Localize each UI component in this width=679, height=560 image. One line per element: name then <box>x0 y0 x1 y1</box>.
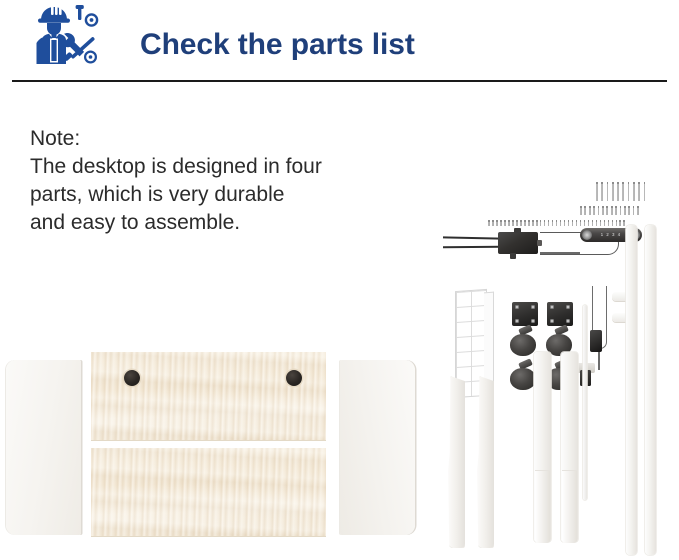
control-wire-upper <box>443 236 501 239</box>
hex-key-socket-left <box>582 230 592 240</box>
note-label: Note: <box>30 125 430 153</box>
curved-base-foot-2 <box>477 376 494 548</box>
white-side-panel-right <box>340 360 415 535</box>
note-line-3: and easy to assemble. <box>30 209 430 237</box>
cable-grommet-hole-left <box>124 370 140 386</box>
mounting-bracket-plate-2 <box>547 302 573 326</box>
wood-desktop-panel-bottom <box>91 448 326 536</box>
cable-grommet-hole-right <box>286 370 302 386</box>
looped-cable-tail <box>540 252 580 254</box>
note-line-2: parts, which is very durable <box>30 181 430 209</box>
header-divider <box>12 80 667 82</box>
curved-base-foot-1 <box>448 376 465 548</box>
control-wire-lower <box>443 246 501 248</box>
white-leg-column-2 <box>561 352 578 542</box>
white-side-panel-left <box>6 360 81 535</box>
worker-with-tools-icon <box>28 4 104 74</box>
page-header: Check the parts list <box>0 0 679 82</box>
note-block: Note: The desktop is designed in four pa… <box>30 125 430 237</box>
note-line-1: The desktop is designed in four <box>30 153 430 181</box>
power-cable-plug <box>590 330 602 352</box>
page-title: Check the parts list <box>140 28 415 62</box>
white-leg-column-1 <box>534 352 551 542</box>
control-box-port-top <box>514 228 521 233</box>
short-screws-row <box>488 220 627 226</box>
wood-desktop-panel-top <box>91 352 326 440</box>
mounting-bracket-plate-1 <box>512 302 538 326</box>
parts-list-page: Check the parts list Note: The desktop i… <box>0 0 679 560</box>
white-support-bar-2 <box>645 225 656 555</box>
white-support-bar-1 <box>626 225 637 555</box>
medium-screws-row <box>580 206 641 215</box>
control-box-port-bottom <box>510 253 516 259</box>
hardware-parts-group: 1 2 3 4 <box>440 180 679 560</box>
hex-key-size-marks: 1 2 3 4 <box>601 233 622 237</box>
thin-support-rod <box>583 305 587 500</box>
desktop-parts-group <box>0 330 440 560</box>
long-screws-row <box>596 182 649 201</box>
motor-control-box <box>498 232 538 254</box>
